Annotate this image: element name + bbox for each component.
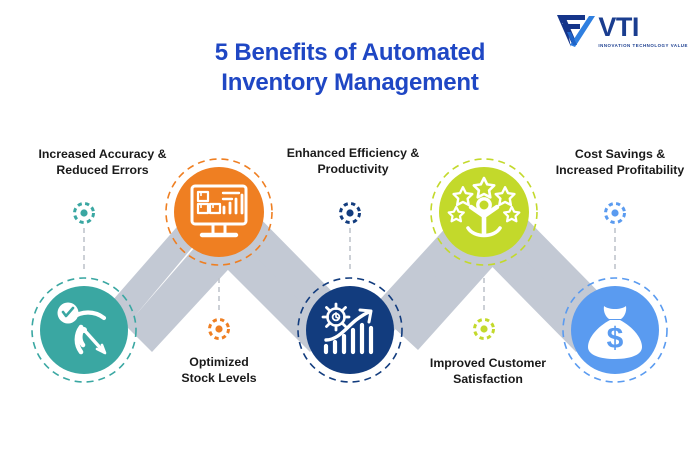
benefit-label-4-line-1: Improved Customer [400, 355, 576, 371]
benefit-label-3-line-2: Productivity [256, 161, 450, 177]
benefit-node-5[interactable]: $ [563, 204, 667, 383]
benefit-3-circle [306, 286, 394, 374]
benefit-label-1-line-2: Reduced Errors [0, 162, 205, 178]
benefit-label-1: Increased Accuracy & Reduced Errors [0, 146, 205, 178]
benefit-3-marker [341, 204, 360, 271]
benefit-label-3-line-1: Enhanced Efficiency & [256, 145, 450, 161]
benefit-label-5-line-2: Increased Profitability [540, 162, 700, 178]
benefit-2-marker [210, 278, 229, 339]
benefit-1-marker [75, 204, 94, 271]
benefit-label-5-line-1: Cost Savings & [540, 146, 700, 162]
benefit-label-2-line-1: Optimized [139, 354, 299, 370]
benefit-label-4: Improved Customer Satisfaction [400, 355, 576, 387]
benefit-label-3: Enhanced Efficiency & Productivity [256, 145, 450, 177]
benefit-label-4-line-2: Satisfaction [400, 371, 576, 387]
benefit-4-marker [475, 278, 494, 339]
benefit-label-5: Cost Savings & Increased Profitability [540, 146, 700, 178]
benefit-label-1-line-1: Increased Accuracy & [0, 146, 205, 162]
benefit-5-marker [606, 204, 625, 271]
benefits-flow-diagram: $ [0, 0, 700, 467]
benefit-label-2: Optimized Stock Levels [139, 354, 299, 386]
infographic-root: VTI INNOVATION TECHNOLOGY VALUE 5 Benefi… [0, 0, 700, 467]
svg-text:$: $ [607, 322, 624, 355]
benefit-label-2-line-2: Stock Levels [139, 370, 299, 386]
